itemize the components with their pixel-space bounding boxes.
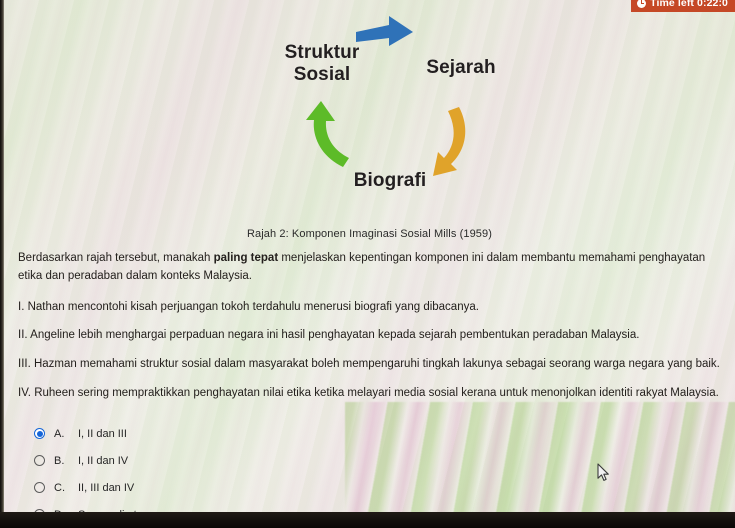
answer-options: A. I, II dan III B. I, II dan IV C. II, …: [34, 420, 434, 512]
option-d[interactable]: D. Semua di atas: [34, 501, 434, 512]
radio-button-b[interactable]: [34, 455, 45, 466]
orange-arrow-down-left-icon: [433, 107, 465, 176]
statement-ii: II. Angeline lebih menghargai perpaduan …: [18, 327, 726, 345]
radio-button-a[interactable]: [34, 428, 45, 439]
option-a[interactable]: A. I, II dan III: [34, 420, 434, 447]
option-b[interactable]: B. I, II dan IV: [34, 447, 434, 474]
question-stem-part1: Berdasarkan rajah tersebut, manakah: [18, 252, 214, 264]
mouse-pointer-icon: [597, 463, 610, 487]
diagram-label-biografi: Biografi: [334, 170, 446, 192]
statement-i: I. Nathan mencontohi kisah perjuangan to…: [18, 299, 726, 317]
clock-icon: [637, 0, 646, 8]
question-stem-emphasis: paling tepat: [214, 252, 279, 264]
option-c-label: II, III dan IV: [78, 482, 134, 494]
option-a-letter: A.: [54, 428, 69, 440]
diagram-label-struktur-line1: Struktur: [266, 42, 378, 64]
question-stem: Berdasarkan rajah tersebut, manakah pali…: [18, 250, 726, 286]
option-b-label: I, II dan IV: [78, 455, 128, 467]
monitor-bezel-left: [0, 0, 4, 512]
time-left-banner: Time left 0:22:0: [631, 0, 735, 12]
quiz-screen: Time left 0:22:0 Struktur Sos: [4, 0, 735, 512]
option-a-label: I, II dan III: [78, 428, 127, 440]
diagram-label-struktur-line2: Sosial: [266, 64, 378, 86]
time-left-label: Time left 0:22:0: [650, 0, 728, 9]
option-c[interactable]: C. II, III dan IV: [34, 474, 434, 501]
diagram-label-struktur-sosial: Struktur Sosial: [266, 42, 378, 87]
diagram-label-sejarah: Sejarah: [406, 57, 516, 79]
social-imagination-diagram: Struktur Sosial Sejarah Biografi: [4, 0, 735, 220]
radio-button-c[interactable]: [34, 482, 45, 493]
question-body: Berdasarkan rajah tersebut, manakah pali…: [18, 250, 726, 403]
diagram-caption: Rajah 2: Komponen Imaginasi Sosial Mills…: [4, 228, 735, 240]
monitor-bezel-bottom: [0, 512, 735, 528]
statement-iii: III. Hazman memahami struktur sosial dal…: [18, 356, 726, 374]
statement-iv: IV. Ruheen sering mempraktikkan penghaya…: [18, 385, 726, 403]
photographed-screen-frame: Time left 0:22:0 Struktur Sos: [0, 0, 735, 528]
option-b-letter: B.: [54, 455, 69, 467]
green-arrow-up-left-icon: [306, 101, 349, 167]
option-c-letter: C.: [54, 482, 69, 494]
